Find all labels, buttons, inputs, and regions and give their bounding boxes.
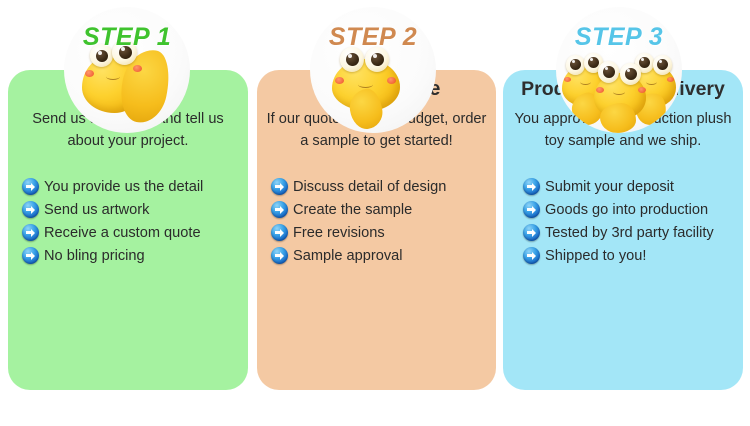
arrow-right-icon	[523, 224, 540, 241]
list-item: Receive a custom quote	[22, 221, 240, 244]
bullet-label: Free revisions	[293, 225, 385, 241]
list-item: Submit your deposit	[523, 175, 735, 198]
step-label-2: STEP 2	[310, 23, 436, 52]
step-medallion-3: STEP 3	[556, 7, 682, 133]
arrow-right-icon	[271, 201, 288, 218]
list-item: Tested by 3rd party facility	[523, 221, 735, 244]
list-item: Free revisions	[271, 221, 488, 244]
bullet-list-1: You provide us the detail Send us artwor…	[22, 175, 240, 267]
bullet-label: Submit your deposit	[545, 179, 674, 195]
bullet-label: You provide us the detail	[44, 179, 203, 195]
list-item: Send us artwork	[22, 198, 240, 221]
list-item: Create the sample	[271, 198, 488, 221]
step-label-3: STEP 3	[556, 23, 682, 52]
arrow-right-icon	[22, 201, 39, 218]
list-item: Discuss detail of design	[271, 175, 488, 198]
list-item: Sample approval	[271, 244, 488, 267]
step-medallion-1: STEP 1	[64, 7, 190, 133]
bullet-label: Shipped to you!	[545, 248, 646, 264]
bullet-label: Send us artwork	[44, 202, 149, 218]
arrow-right-icon	[271, 247, 288, 264]
list-item: Shipped to you!	[523, 244, 735, 267]
bullet-list-2: Discuss detail of design Create the samp…	[271, 175, 488, 267]
arrow-right-icon	[22, 224, 39, 241]
bullet-label: Goods go into production	[545, 202, 708, 218]
bullet-label: No bling pricing	[44, 248, 145, 264]
bullet-label: Receive a custom quote	[44, 225, 201, 241]
arrow-right-icon	[523, 247, 540, 264]
list-item: Goods go into production	[523, 198, 735, 221]
arrow-right-icon	[271, 178, 288, 195]
arrow-right-icon	[22, 178, 39, 195]
step-medallion-2: STEP 2	[310, 7, 436, 133]
list-item: You provide us the detail	[22, 175, 240, 198]
bullet-label: Tested by 3rd party facility	[545, 225, 714, 241]
list-item: No bling pricing	[22, 244, 240, 267]
bullet-label: Sample approval	[293, 248, 403, 264]
infographic-canvas: Get A Quote Send us an inquiry and tell …	[0, 0, 750, 426]
bullet-label: Discuss detail of design	[293, 179, 446, 195]
bullet-list-3: Submit your deposit Goods go into produc…	[523, 175, 735, 267]
arrow-right-icon	[271, 224, 288, 241]
arrow-right-icon	[523, 201, 540, 218]
bullet-label: Create the sample	[293, 202, 412, 218]
step-label-1: STEP 1	[64, 23, 190, 52]
arrow-right-icon	[22, 247, 39, 264]
arrow-right-icon	[523, 178, 540, 195]
